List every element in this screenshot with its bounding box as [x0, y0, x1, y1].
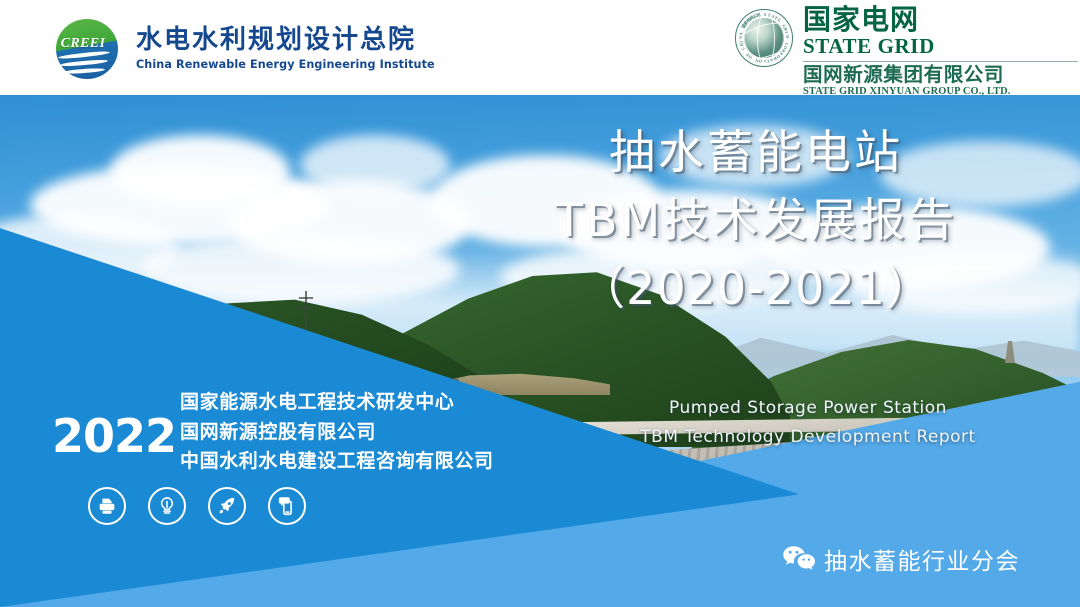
- transmission-pylon: [305, 291, 307, 333]
- organization-item: 中国水利水电建设工程咨询有限公司: [180, 447, 494, 477]
- slide-title: 抽水蓄能电站 TBM技术发展报告 （2020-2021）: [476, 118, 1036, 322]
- mobile-chat-icon[interactable]: [268, 487, 306, 525]
- title-line-1: 抽水蓄能电站: [476, 118, 1036, 186]
- cloud-shape: [300, 135, 450, 195]
- creei-text-block: 水电水利规划设计总院 China Renewable Energy Engine…: [136, 27, 435, 71]
- state-grid-title-cn: 国家电网: [803, 6, 1078, 34]
- creei-title-en: China Renewable Energy Engineering Insti…: [136, 58, 435, 71]
- organization-item: 国网新源控股有限公司: [180, 418, 494, 448]
- xinyuan-name-cn: 国网新源集团有限公司: [803, 65, 1078, 85]
- state-grid-title-en: STATE GRID: [803, 35, 1078, 57]
- slide-subtitle: Pumped Storage Power Station TBM Technol…: [598, 394, 1018, 452]
- subtitle-line-2: TBM Technology Development Report: [598, 423, 1018, 452]
- feature-icon-row: [88, 487, 306, 525]
- lightbulb-icon[interactable]: [148, 487, 186, 525]
- organization-item: 国家能源水电工程技术研发中心: [180, 388, 494, 418]
- creei-wordmark: CREEI: [52, 36, 114, 52]
- organization-list: 国家能源水电工程技术研发中心 国网新源控股有限公司 中国水利水电建设工程咨询有限…: [180, 388, 494, 477]
- presentation-cover-slide: CREEI 水电水利规划设计总院 China Renewable Energy …: [0, 0, 1080, 607]
- year-label: 2022: [52, 413, 176, 459]
- title-line-2: TBM技术发展报告: [476, 186, 1036, 254]
- wechat-channel-label: 抽水蓄能行业分会: [824, 542, 1020, 576]
- creei-logo-block: CREEI 水电水利规划设计总院 China Renewable Energy …: [52, 17, 435, 81]
- state-grid-globe-emblem-icon: STATE GRID CORPORATION OF CHINA 国家电网公司: [729, 6, 799, 70]
- creei-circular-logo-icon: CREEI: [52, 17, 124, 81]
- xinyuan-name-en: STATE GRID XINYUAN GROUP CO., LTD.: [803, 86, 1078, 97]
- creei-title-cn: 水电水利规划设计总院: [136, 27, 435, 55]
- title-line-3: （2020-2021）: [476, 254, 1036, 322]
- slide-header: CREEI 水电水利规划设计总院 China Renewable Energy …: [0, 0, 1080, 95]
- printer-icon[interactable]: [88, 487, 126, 525]
- state-grid-logo-block: STATE GRID CORPORATION OF CHINA 国家电网公司 国…: [729, 4, 1078, 97]
- wechat-channel-banner[interactable]: 抽水蓄能行业分会: [782, 542, 1020, 576]
- wechat-icon: [782, 545, 816, 573]
- subtitle-line-1: Pumped Storage Power Station: [598, 394, 1018, 423]
- emblem-microtext: STATE GRID CORPORATION OF CHINA 国家电网公司: [735, 9, 793, 67]
- logo-divider: [803, 61, 1078, 62]
- rocket-icon[interactable]: [208, 487, 246, 525]
- state-grid-text-block: 国家电网 STATE GRID 国网新源集团有限公司 STATE GRID XI…: [803, 4, 1078, 97]
